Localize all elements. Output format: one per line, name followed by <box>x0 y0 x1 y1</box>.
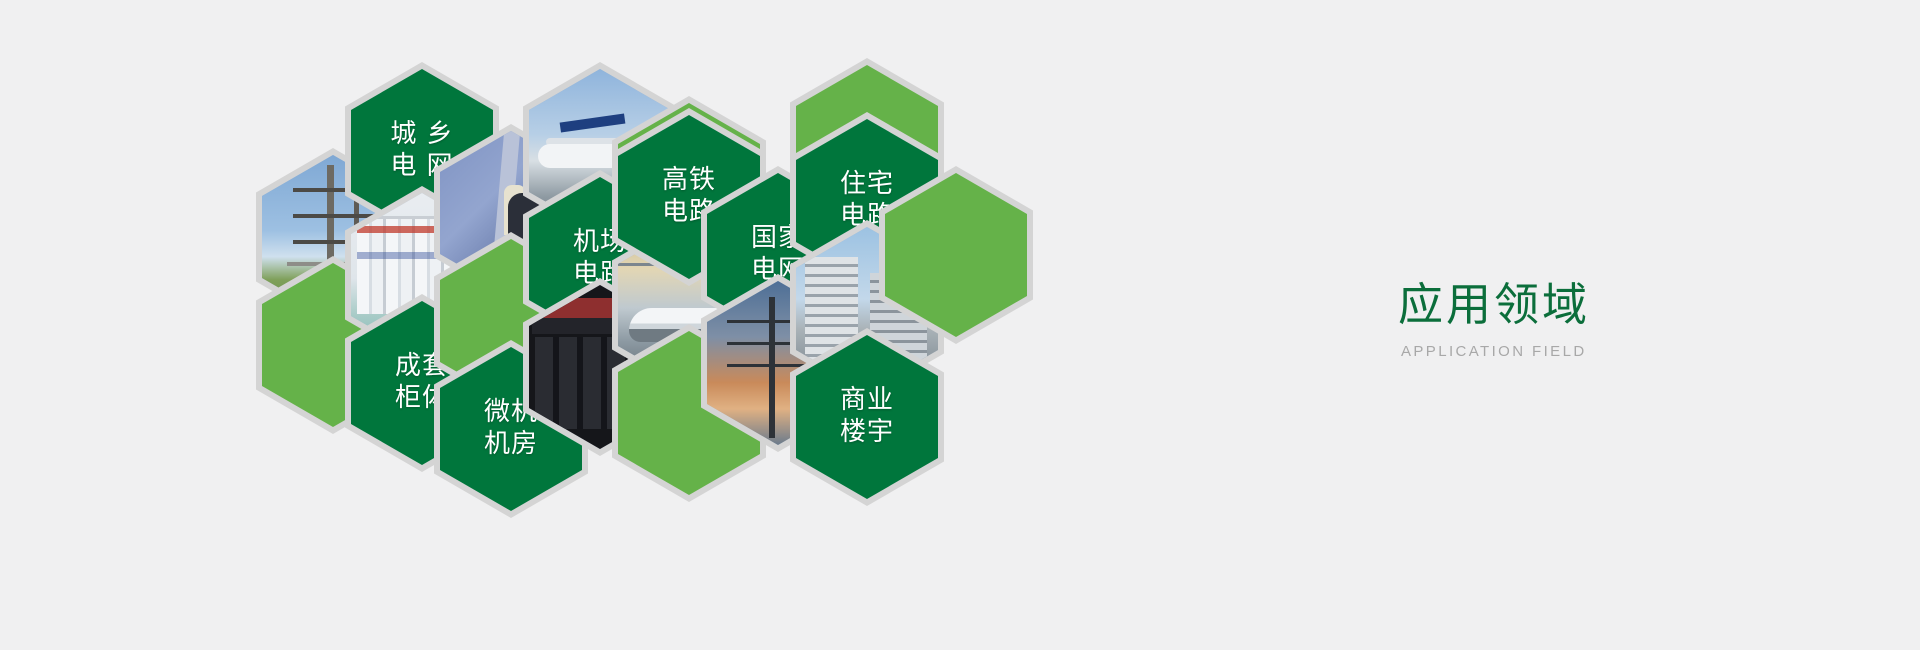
page-title: 应用领域 <box>1398 282 1590 327</box>
hex-inner: 商业 楼宇 <box>796 335 938 499</box>
hex-grid-canvas: 城 乡 电 网 成套 柜体 微机 机房 机场 电路 <box>0 0 1920 650</box>
page-subtitle: APPLICATION FIELD <box>1401 343 1590 360</box>
hex-inner <box>885 173 1027 337</box>
hex-label: 商业 楼宇 <box>840 385 894 448</box>
heading-block: 应用领域 APPLICATION FIELD <box>1398 282 1590 360</box>
